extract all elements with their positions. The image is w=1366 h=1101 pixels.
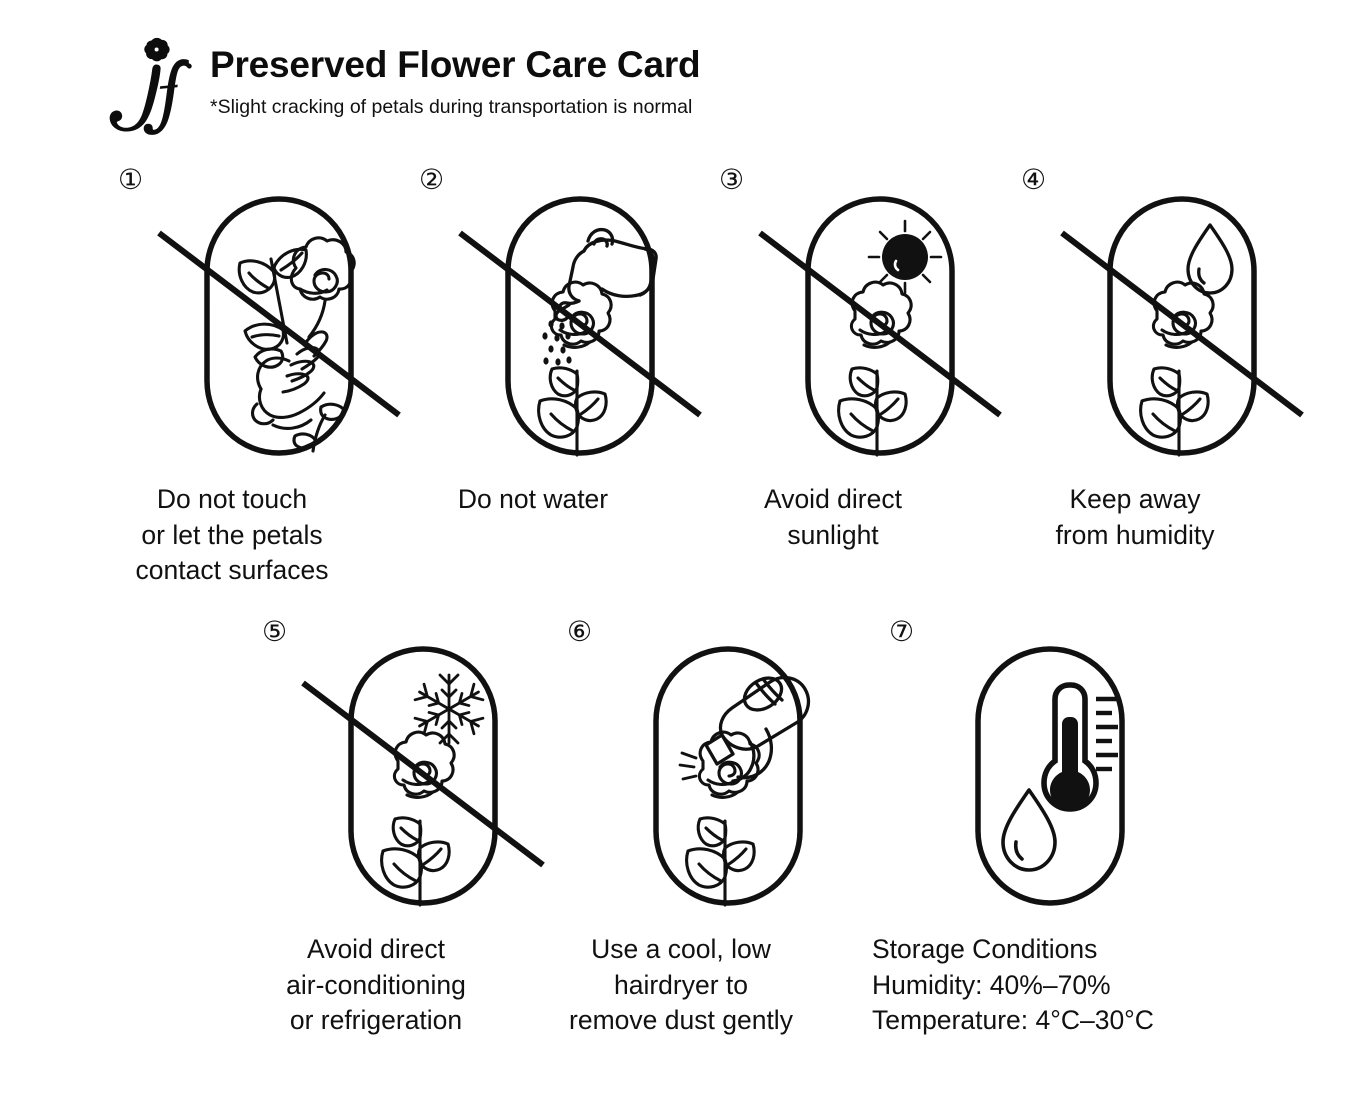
- item-number-5: ⑤: [262, 618, 287, 646]
- card-header: Preserved Flower Care Card *Slight crack…: [104, 32, 700, 132]
- item-number-3: ③: [719, 166, 744, 194]
- care-item-caption-4: Keep away from humidity: [985, 482, 1285, 553]
- sun-rose-icon: [757, 188, 1007, 488]
- item-number-4: ④: [1021, 166, 1046, 194]
- item-number-6: ⑥: [567, 618, 592, 646]
- snowflake-rose-icon: [300, 638, 550, 938]
- water-droplet-rose-icon: [1059, 188, 1309, 488]
- item-number-1: ①: [118, 166, 143, 194]
- watering-can-rose-icon: [457, 188, 707, 488]
- care-card: Preserved Flower Care Card *Slight crack…: [0, 0, 1366, 1101]
- care-item-caption-2: Do not water: [383, 482, 683, 518]
- jf-monogram-logo: [104, 32, 196, 132]
- item-number-7: ⑦: [889, 618, 914, 646]
- care-item-caption-1: Do not touch or let the petals contact s…: [82, 482, 382, 589]
- care-item-caption-5: Avoid direct air-conditioning or refrige…: [226, 932, 526, 1039]
- care-item-caption-6: Use a cool, low hairdryer to remove dust…: [531, 932, 831, 1039]
- page-title: Preserved Flower Care Card: [210, 46, 700, 85]
- thermometer-droplet-icon: [927, 638, 1177, 938]
- page-subtitle: *Slight cracking of petals during transp…: [210, 96, 700, 119]
- care-item-caption-7: Storage Conditions Humidity: 40%–70% Tem…: [872, 932, 1272, 1039]
- item-number-2: ②: [419, 166, 444, 194]
- care-item-caption-3: Avoid direct sunlight: [683, 482, 983, 553]
- hairdryer-rose-icon: [605, 638, 855, 938]
- hand-holding-rose-icon: [156, 188, 406, 488]
